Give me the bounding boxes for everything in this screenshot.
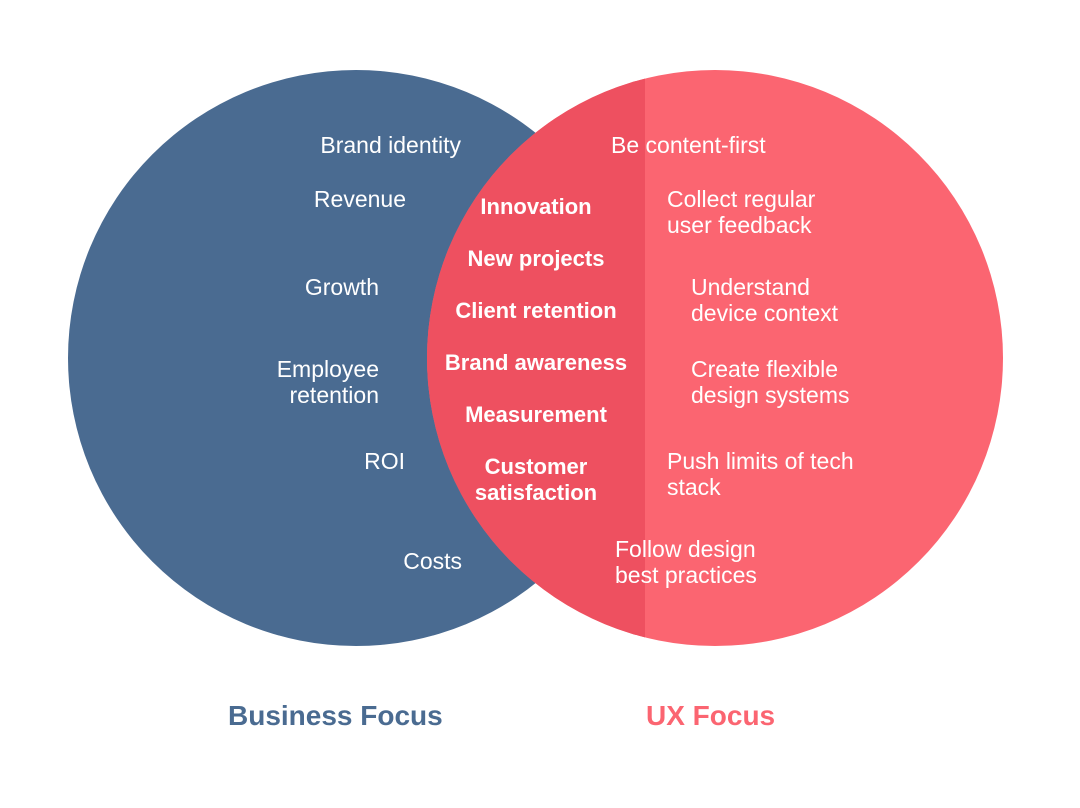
ux-item-push-limits-of-tech-stack: Push limits of tech stack <box>667 448 917 500</box>
ux-focus-label: UX Focus <box>646 700 775 732</box>
business-focus-label: Business Focus <box>228 700 443 732</box>
ux-item-follow-design-best-practices: Follow design best practices <box>615 536 865 588</box>
ux-item-collect-regular-user-feedback: Collect regular user feedback <box>667 186 907 238</box>
ux-item-understand-device-context: Understand device context <box>691 274 931 326</box>
ux-item-be-content-first: Be content-first <box>611 132 871 158</box>
ux-focus-items: Be content-first Collect regular user fe… <box>0 0 1080 808</box>
venn-diagram: Brand identity Revenue Growth Employee r… <box>0 0 1080 808</box>
ux-item-create-flexible-design-systems: Create flexible design systems <box>691 356 931 408</box>
